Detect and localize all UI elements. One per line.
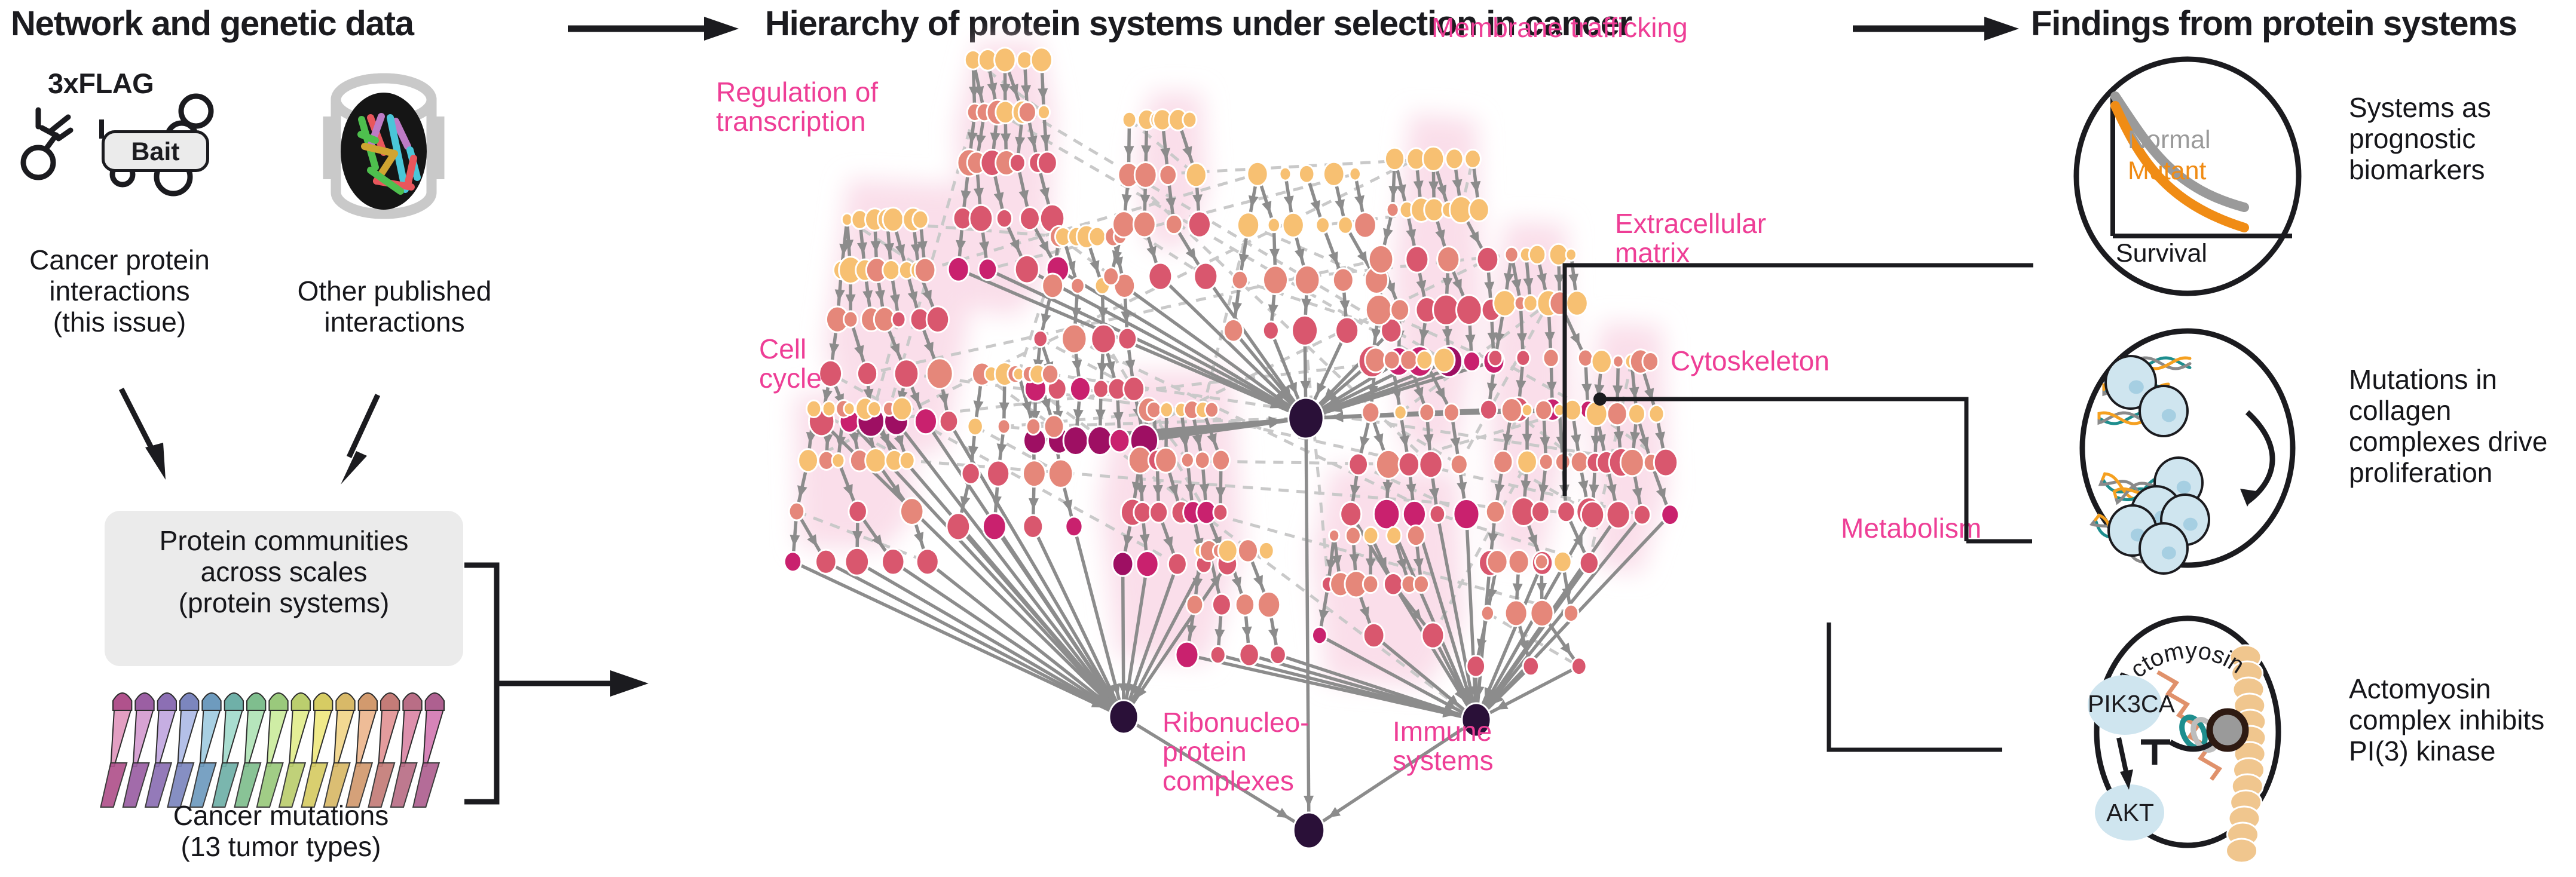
protein-system-node[interactable]	[969, 205, 993, 232]
protein-system-node[interactable]	[1385, 148, 1404, 170]
protein-system-node[interactable]	[1394, 406, 1406, 420]
label-line: Ribonucleo-	[1162, 708, 1309, 737]
protein-system-node[interactable]	[1149, 263, 1172, 290]
protein-system-node[interactable]	[832, 453, 845, 468]
protein-system-node[interactable]	[1113, 211, 1136, 238]
protein-system-node[interactable]	[1147, 401, 1161, 418]
protein-system-node[interactable]	[1363, 575, 1378, 593]
caption-line: interactions	[269, 307, 520, 338]
protein-system-node[interactable]	[1110, 429, 1130, 452]
edge-arrowhead	[1268, 628, 1278, 640]
protein-system-node[interactable]	[883, 207, 904, 231]
protein-system-node[interactable]	[1263, 266, 1288, 295]
protein-system-node[interactable]	[1400, 350, 1417, 370]
protein-system-node[interactable]	[1210, 646, 1225, 664]
protein-system-node[interactable]	[883, 260, 900, 280]
protein-system-node[interactable]	[947, 513, 970, 540]
protein-system-node[interactable]	[987, 461, 1009, 486]
connector-to-actomyosin	[1823, 621, 2074, 824]
protein-system-node[interactable]	[1419, 404, 1434, 421]
protein-system-node[interactable]	[1293, 812, 1324, 848]
network-label-regulation-of-transcription: Regulation oftranscription	[716, 78, 878, 136]
edge-arrowhead	[1124, 146, 1134, 157]
protein-system-node[interactable]	[1176, 642, 1198, 668]
protein-system-node[interactable]	[1338, 216, 1353, 234]
protein-system-node[interactable]	[1155, 447, 1177, 473]
protein-system-node[interactable]	[1451, 455, 1467, 474]
protein-system-node[interactable]	[1238, 539, 1258, 562]
protein-system-node[interactable]	[1186, 595, 1203, 614]
protein-system-node[interactable]	[1316, 217, 1330, 233]
cell-nucleus	[2177, 481, 2191, 494]
protein-system-node[interactable]	[1213, 504, 1228, 521]
protein-system-node[interactable]	[1289, 398, 1323, 438]
finding-line: prognostic	[2349, 124, 2576, 155]
edge-arrowhead	[1041, 398, 1050, 410]
flag-label: 3xFLAG	[48, 67, 154, 100]
protein-system-node[interactable]	[1433, 295, 1460, 325]
protein-system-node[interactable]	[1038, 105, 1050, 119]
survival-legend-mutant: Mutant	[2128, 157, 2206, 186]
protein-system-node[interactable]	[1168, 553, 1186, 575]
protein-system-node[interactable]	[1134, 162, 1157, 188]
cancer-protein-interactions-caption: Cancer protein interactions (this issue)	[6, 245, 233, 338]
protein-system-node[interactable]	[1237, 213, 1259, 238]
finding-line: complexes drive	[2349, 427, 2576, 458]
protein-system-node[interactable]	[868, 401, 881, 416]
protein-system-node[interactable]	[1333, 268, 1353, 292]
protein-system-node[interactable]	[1044, 415, 1064, 438]
protein-system-node[interactable]	[1270, 646, 1286, 664]
label-line: Cell	[759, 335, 822, 364]
akt-node-label: AKT	[2093, 799, 2167, 827]
protein-system-node[interactable]	[1165, 214, 1182, 234]
survival-legend-normal: Normal	[2128, 125, 2211, 155]
protein-system-node[interactable]	[1048, 459, 1073, 487]
protein-system-node[interactable]	[849, 501, 867, 522]
protein-system-node[interactable]	[1268, 218, 1280, 232]
protein-system-node[interactable]	[926, 306, 949, 333]
protein-system-node[interactable]	[1181, 453, 1194, 468]
protein-system-node[interactable]	[1186, 163, 1206, 187]
protein-system-node[interactable]	[1023, 515, 1043, 538]
protein-system-node[interactable]	[816, 550, 837, 574]
edge-arrowhead	[914, 532, 923, 544]
label-line: Regulation of	[716, 78, 878, 107]
cell-shape	[2140, 523, 2188, 574]
protein-system-node[interactable]	[1263, 321, 1278, 339]
protein-system-node[interactable]	[1424, 198, 1444, 222]
caption-line: Other published	[269, 276, 520, 307]
protein-system-node[interactable]	[892, 397, 912, 421]
cancer-mutations-caption: Cancer mutations (13 tumor types)	[102, 801, 460, 863]
protein-system-node[interactable]	[1235, 594, 1254, 616]
protein-system-node[interactable]	[1091, 324, 1116, 353]
caption-line: Cancer mutations	[102, 801, 460, 832]
protein-system-node[interactable]	[998, 419, 1010, 434]
published-interactions-icon	[305, 63, 484, 230]
protein-system-node[interactable]	[1042, 274, 1063, 298]
protein-system-node[interactable]	[1093, 380, 1109, 398]
protein-system-node[interactable]	[1363, 623, 1384, 648]
protein-system-node[interactable]	[900, 452, 914, 469]
finding-line: Mutations in	[2349, 364, 2576, 395]
protein-system-node[interactable]	[1258, 591, 1280, 618]
protein-system-node[interactable]	[1407, 525, 1424, 545]
protein-system-node[interactable]	[1212, 450, 1229, 470]
right-panel-title: Findings from protein systems	[2031, 4, 2517, 44]
protein-system-node[interactable]	[1183, 112, 1197, 128]
box-line: across scales	[105, 557, 463, 588]
protein-system-node[interactable]	[1015, 255, 1039, 283]
protein-system-node[interactable]	[1481, 606, 1494, 621]
protein-system-node[interactable]	[1406, 246, 1428, 272]
edge-arrowhead	[1253, 575, 1263, 588]
protein-system-node[interactable]	[926, 358, 953, 389]
protein-system-node[interactable]	[1384, 574, 1402, 595]
label-line: transcription	[716, 107, 878, 136]
protein-system-node[interactable]	[882, 548, 904, 575]
protein-system-node[interactable]	[1031, 48, 1052, 72]
protein-system-node[interactable]	[1376, 450, 1400, 479]
actin-bead	[2226, 839, 2257, 863]
protein-system-node[interactable]	[1422, 146, 1443, 171]
protein-system-node[interactable]	[996, 209, 1012, 228]
protein-system-node[interactable]	[913, 210, 928, 228]
protein-system-node[interactable]	[1457, 295, 1482, 325]
protein-system-node[interactable]	[1446, 149, 1463, 169]
protein-system-node[interactable]	[1469, 198, 1489, 222]
protein-system-node[interactable]	[1071, 278, 1085, 293]
finding-3-text: Actomyosin complex inhibits PI(3) kinase	[2349, 674, 2576, 767]
protein-system-node[interactable]	[1240, 643, 1259, 666]
protein-system-node[interactable]	[1350, 167, 1361, 180]
protein-system-node[interactable]	[1430, 505, 1445, 523]
protein-system-node[interactable]	[978, 259, 997, 280]
protein-system-node[interactable]	[1018, 102, 1036, 122]
protein-system-node[interactable]	[1419, 451, 1442, 478]
protein-system-node[interactable]	[799, 449, 818, 472]
protein-system-node[interactable]	[1336, 317, 1359, 344]
protein-system-node[interactable]	[1329, 529, 1339, 541]
protein-system-node[interactable]	[940, 410, 958, 432]
protein-system-node[interactable]	[1038, 152, 1057, 174]
protein-system-node[interactable]	[1188, 211, 1210, 237]
protein-system-node[interactable]	[1023, 461, 1045, 487]
protein-system-node[interactable]	[962, 463, 980, 484]
bait-label: Bait	[105, 137, 206, 167]
caption-line: (this issue)	[6, 307, 233, 338]
label-line: systems	[1393, 746, 1494, 775]
protein-system-node[interactable]	[916, 549, 938, 575]
arrow-down-left	[117, 385, 188, 481]
edge-arrowhead	[1029, 498, 1039, 510]
cell-nucleus	[2162, 409, 2176, 422]
protein-system-node[interactable]	[1299, 165, 1314, 183]
survival-axis-label: Survival	[2116, 239, 2207, 268]
cell-nucleus	[2183, 518, 2198, 531]
protein-system-node[interactable]	[844, 311, 858, 327]
protein-system-node[interactable]	[1150, 502, 1168, 523]
protein-system-node[interactable]	[892, 311, 905, 327]
protein-system-node[interactable]	[857, 362, 877, 385]
protein-system-node[interactable]	[1454, 499, 1479, 529]
label-line: complexes	[1162, 766, 1309, 796]
arrow-down-right	[341, 391, 412, 487]
protein-system-node[interactable]	[1247, 162, 1268, 186]
protein-system-node[interactable]	[1109, 700, 1138, 734]
protein-system-node[interactable]	[1020, 207, 1039, 229]
protein-system-node[interactable]	[1312, 627, 1327, 644]
label-line: protein	[1162, 737, 1309, 766]
protein-system-node[interactable]	[1387, 527, 1402, 544]
protein-communities-text: Protein communities across scales (prote…	[105, 526, 463, 619]
protein-system-node[interactable]	[1369, 245, 1393, 273]
protein-system-node[interactable]	[1009, 154, 1025, 171]
caption-line: (13 tumor types)	[102, 832, 460, 863]
cancer-mutations-ribbon-icon	[111, 684, 445, 815]
caption-line: interactions	[6, 276, 233, 307]
box-line: (protein systems)	[105, 588, 463, 619]
protein-system-node[interactable]	[1341, 502, 1362, 526]
label-line: cycle	[759, 364, 822, 393]
edge-arrowhead	[1269, 249, 1280, 260]
protein-system-node[interactable]	[1017, 51, 1032, 69]
protein-system-node[interactable]	[1280, 167, 1291, 180]
protein-system-node[interactable]	[1362, 402, 1379, 422]
protein-system-node[interactable]	[1422, 623, 1444, 648]
protein-system-node[interactable]	[968, 418, 983, 436]
edge-arrowhead	[999, 403, 1009, 414]
protein-system-node[interactable]	[1387, 203, 1399, 216]
protein-system-node[interactable]	[914, 258, 935, 282]
protein-system-node[interactable]	[1066, 517, 1082, 536]
protein-system-node[interactable]	[1463, 352, 1480, 372]
protein-system-node[interactable]	[1205, 402, 1218, 418]
protein-system-node[interactable]	[1283, 213, 1304, 237]
edge-arrowhead	[1214, 629, 1225, 641]
label-line: Membrane trafficking	[1431, 13, 1688, 42]
protein-system-node[interactable]	[1218, 539, 1237, 562]
protein-system-node[interactable]	[1366, 295, 1392, 325]
protein-system-node[interactable]	[1363, 527, 1378, 544]
other-published-interactions-caption: Other published interactions	[269, 276, 520, 338]
protein-system-node[interactable]	[1133, 211, 1155, 237]
protein-system-node[interactable]	[845, 548, 869, 575]
finding-line: complex inhibits	[2349, 705, 2576, 736]
protein-system-node[interactable]	[1465, 149, 1481, 168]
finding-line: collagen	[2349, 395, 2576, 427]
edge-arrowhead	[1484, 281, 1494, 293]
network-label-membrane-trafficking: Membrane trafficking	[1431, 13, 1688, 42]
protein-system-node[interactable]	[1118, 328, 1137, 349]
finding-2-text: Mutations in collagen complexes drive pr…	[2349, 364, 2576, 489]
protein-system-node[interactable]	[1444, 403, 1460, 421]
finding-line: proliferation	[2349, 458, 2576, 489]
left-bracket-arrow	[463, 562, 660, 812]
finding-line: Systems as	[2349, 93, 2576, 124]
protein-system-node[interactable]	[1295, 266, 1320, 295]
edge-arrowhead	[1262, 201, 1271, 213]
box-line: Protein communities	[105, 526, 463, 557]
protein-system-node[interactable]	[1354, 212, 1376, 238]
protein-system-node[interactable]	[995, 48, 1016, 72]
protein-system-node[interactable]	[1349, 453, 1368, 476]
protein-system-node[interactable]	[1467, 655, 1485, 677]
protein-system-node[interactable]	[789, 502, 804, 520]
protein-system-node[interactable]	[1042, 364, 1058, 384]
protein-system-node[interactable]	[1134, 502, 1152, 522]
edge-arrowhead	[1304, 796, 1314, 807]
cell-nucleus	[2162, 547, 2176, 560]
edge-arrowhead	[1249, 195, 1259, 207]
protein-system-node[interactable]	[806, 400, 821, 417]
protein-system-node[interactable]	[1391, 299, 1409, 321]
antibody-icon	[23, 104, 100, 182]
actomyosin-pathway-icon: Actomyosin	[2071, 615, 2322, 866]
edge-arrowhead	[1373, 433, 1383, 446]
protein-system-node[interactable]	[1345, 527, 1360, 544]
flag-bait-icon-group: 3xFLAG Bait	[18, 67, 233, 186]
protein-system-node[interactable]	[1414, 575, 1428, 593]
protein-system-node[interactable]	[1122, 112, 1136, 128]
protein-system-node[interactable]	[1373, 499, 1400, 529]
protein-system-node[interactable]	[983, 513, 1006, 540]
protein-system-node[interactable]	[822, 401, 836, 416]
protein-system-node[interactable]	[1160, 402, 1173, 417]
protein-system-node[interactable]	[1033, 330, 1048, 346]
protein-system-node[interactable]	[1399, 452, 1419, 476]
protein-system-node[interactable]	[1417, 351, 1433, 369]
protein-system-node[interactable]	[1089, 227, 1106, 246]
protein-system-node[interactable]	[900, 498, 923, 525]
edge-arrowhead	[1146, 246, 1156, 259]
finding-line: Actomyosin	[2349, 674, 2576, 705]
protein-system-node[interactable]	[1088, 427, 1112, 455]
edge-arrowhead	[1332, 412, 1343, 422]
protein-system-node[interactable]	[1259, 542, 1274, 559]
network-label-immune-systems: Immunesystems	[1393, 717, 1494, 775]
protein-system-node[interactable]	[1224, 319, 1243, 342]
protein-system-node[interactable]	[784, 552, 801, 572]
protein-system-node[interactable]	[844, 403, 855, 415]
finding-line: biomarkers	[2349, 155, 2576, 186]
protein-system-node[interactable]	[894, 360, 919, 388]
bait-chip: Bait	[102, 130, 209, 172]
protein-system-node[interactable]	[1136, 551, 1158, 577]
left-panel-title: Network and genetic data	[11, 4, 414, 44]
protein-system-node[interactable]	[1292, 315, 1318, 345]
protein-system-node[interactable]	[1194, 263, 1217, 290]
network-label-cell-cycle: Cellcycle	[759, 335, 822, 393]
protein-system-node[interactable]	[1112, 552, 1133, 576]
protein-system-node[interactable]	[1124, 377, 1145, 401]
caption-line: Cancer protein	[6, 245, 233, 276]
protein-system-node[interactable]	[1323, 162, 1344, 186]
finding-line: PI(3) kinase	[2349, 736, 2576, 767]
finding-1-text: Systems as prognostic biomarkers	[2349, 93, 2576, 186]
label-line: Immune	[1393, 717, 1494, 746]
protein-system-node[interactable]	[1159, 165, 1177, 185]
protein-system-node[interactable]	[1403, 501, 1425, 527]
protein-system-node[interactable]	[914, 409, 937, 434]
network-label-ribonucleoprotein-complexes: Ribonucleo-proteincomplexes	[1162, 708, 1309, 796]
pik3ca-node-label: PIK3CA	[2088, 690, 2162, 718]
protein-system-node[interactable]	[1232, 271, 1248, 289]
protein-system-node[interactable]	[1070, 377, 1090, 401]
edge-arrowhead	[1242, 627, 1252, 639]
collagen-cells-icon	[2068, 323, 2325, 574]
protein-system-node[interactable]	[1195, 452, 1210, 469]
protein-system-node[interactable]	[1437, 246, 1460, 272]
protein-system-node[interactable]	[948, 257, 969, 281]
protein-system-node[interactable]	[1434, 348, 1455, 372]
protein-system-node[interactable]	[1063, 427, 1088, 455]
cell-shape	[2140, 386, 2188, 436]
cell-nucleus	[2129, 380, 2144, 394]
protein-system-node[interactable]	[1062, 324, 1087, 353]
protein-system-node[interactable]	[1026, 418, 1041, 434]
protein-system-node[interactable]	[1103, 268, 1119, 286]
protein-system-node[interactable]	[819, 360, 842, 387]
protein-system-node[interactable]	[1384, 351, 1400, 369]
protein-system-node[interactable]	[1212, 594, 1231, 615]
protein-system-node[interactable]	[865, 448, 886, 473]
